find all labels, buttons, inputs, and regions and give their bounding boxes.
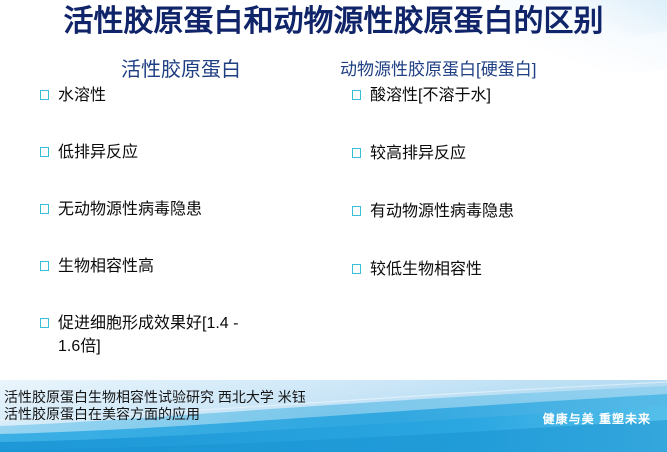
square-bullet-icon bbox=[40, 318, 49, 328]
footer-source-line-2: 活性胶原蛋白在美容方面的应用 bbox=[4, 406, 306, 423]
bullet-list-right: 酸溶性[不溶于水] 较高排异反应 有动物源性病毒隐患 较低生物相容性 bbox=[336, 84, 664, 281]
brand-tagline: 健康与美 重塑未来 bbox=[543, 410, 651, 427]
list-item-label: 较高排异反应 bbox=[370, 142, 664, 165]
square-bullet-icon bbox=[352, 206, 361, 216]
list-item: 无动物源性病毒隐患 bbox=[14, 198, 334, 221]
square-bullet-icon bbox=[40, 261, 49, 271]
list-item: 有动物源性病毒隐患 bbox=[336, 200, 664, 223]
page-title: 活性胶原蛋白和动物源性胶原蛋白的区别 bbox=[0, 2, 667, 42]
list-item: 促进细胞形成效果好[1.4 - 1.6倍] bbox=[14, 312, 334, 358]
square-bullet-icon bbox=[352, 90, 361, 100]
list-item-label: 促进细胞形成效果好[1.4 - 1.6倍] bbox=[58, 312, 334, 358]
list-item-label: 无动物源性病毒隐患 bbox=[58, 198, 334, 221]
list-item: 生物相容性高 bbox=[14, 255, 334, 278]
list-item-label: 酸溶性[不溶于水] bbox=[370, 84, 664, 107]
square-bullet-icon bbox=[40, 147, 49, 157]
list-item: 酸溶性[不溶于水] bbox=[336, 84, 664, 107]
list-item: 较高排异反应 bbox=[336, 142, 664, 165]
list-item: 水溶性 bbox=[14, 84, 334, 107]
column-heading-left: 活性胶原蛋白 bbox=[14, 56, 334, 84]
list-item-label: 生物相容性高 bbox=[58, 255, 334, 278]
list-item: 低排异反应 bbox=[14, 141, 334, 164]
footer-band: 活性胶原蛋白生物相容性试验研究 西北大学 米钰 活性胶原蛋白在美容方面的应用 健… bbox=[0, 380, 667, 452]
square-bullet-icon bbox=[40, 204, 49, 214]
column-heading-right: 动物源性胶原蛋白[硬蛋白] bbox=[336, 56, 664, 84]
list-item-label: 有动物源性病毒隐患 bbox=[370, 200, 664, 223]
list-item-label: 水溶性 bbox=[58, 84, 334, 107]
slide-canvas: 活性胶原蛋白和动物源性胶原蛋白的区别 活性胶原蛋白 水溶性 低排异反应 无动物源… bbox=[0, 0, 667, 452]
bullet-list-left: 水溶性 低排异反应 无动物源性病毒隐患 生物相容性高 促进细胞形成效果好[1.4… bbox=[14, 84, 334, 358]
footer-source-text: 活性胶原蛋白生物相容性试验研究 西北大学 米钰 活性胶原蛋白在美容方面的应用 bbox=[4, 389, 306, 423]
list-item-label: 较低生物相容性 bbox=[370, 258, 664, 281]
square-bullet-icon bbox=[40, 90, 49, 100]
list-item: 较低生物相容性 bbox=[336, 258, 664, 281]
square-bullet-icon bbox=[352, 148, 361, 158]
list-item-label: 低排异反应 bbox=[58, 141, 334, 164]
square-bullet-icon bbox=[352, 264, 361, 274]
column-active-collagen: 活性胶原蛋白 水溶性 低排异反应 无动物源性病毒隐患 生物相容性高 促进细胞形成… bbox=[14, 56, 334, 358]
column-animal-collagen: 动物源性胶原蛋白[硬蛋白] 酸溶性[不溶于水] 较高排异反应 有动物源性病毒隐患… bbox=[336, 56, 664, 281]
footer-source-line-1: 活性胶原蛋白生物相容性试验研究 西北大学 米钰 bbox=[4, 389, 306, 406]
